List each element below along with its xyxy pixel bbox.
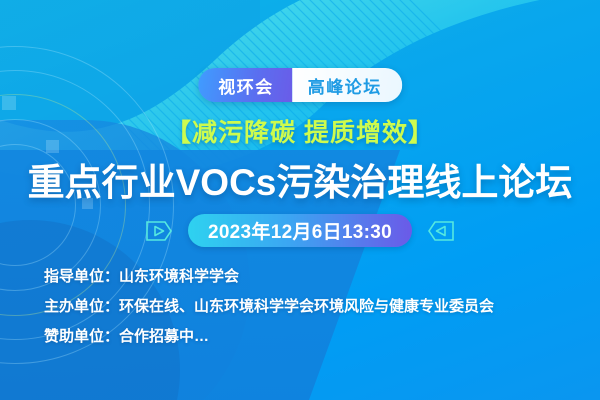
info-line-host: 主办单位：环保在线、山东环境科学学会环境风险与健康专业委员会 xyxy=(44,292,574,322)
event-datetime-row: 2023年12月6日13:30 xyxy=(0,214,600,247)
play-triangle-right-icon xyxy=(144,217,174,245)
event-poster: 视环会 高峰论坛 【减污降碳 提质增效】 重点行业VOCs污染治理线上论坛 20… xyxy=(0,0,600,400)
organizer-info-block: 指导单位：山东环境科学学会 主办单位：环保在线、山东环境科学学会环境风险与健康专… xyxy=(44,262,574,352)
info-line-sponsor: 赞助单位：合作招募中… xyxy=(44,322,574,352)
event-datetime-badge: 2023年12月6日13:30 xyxy=(188,214,412,247)
pill-brand-label: 视环会 xyxy=(198,68,292,102)
info-line-guidance: 指导单位：山东环境科学学会 xyxy=(44,262,574,292)
poster-title: 重点行业VOCs污染治理线上论坛 xyxy=(0,152,600,206)
poster-content: 视环会 高峰论坛 【减污降碳 提质增效】 重点行业VOCs污染治理线上论坛 20… xyxy=(0,0,600,400)
pill-forum-label: 高峰论坛 xyxy=(292,68,402,102)
brand-pill-badge: 视环会 高峰论坛 xyxy=(198,68,402,102)
play-triangle-left-icon xyxy=(426,217,456,245)
poster-subheadline: 【减污降碳 提质增效】 xyxy=(0,113,600,149)
